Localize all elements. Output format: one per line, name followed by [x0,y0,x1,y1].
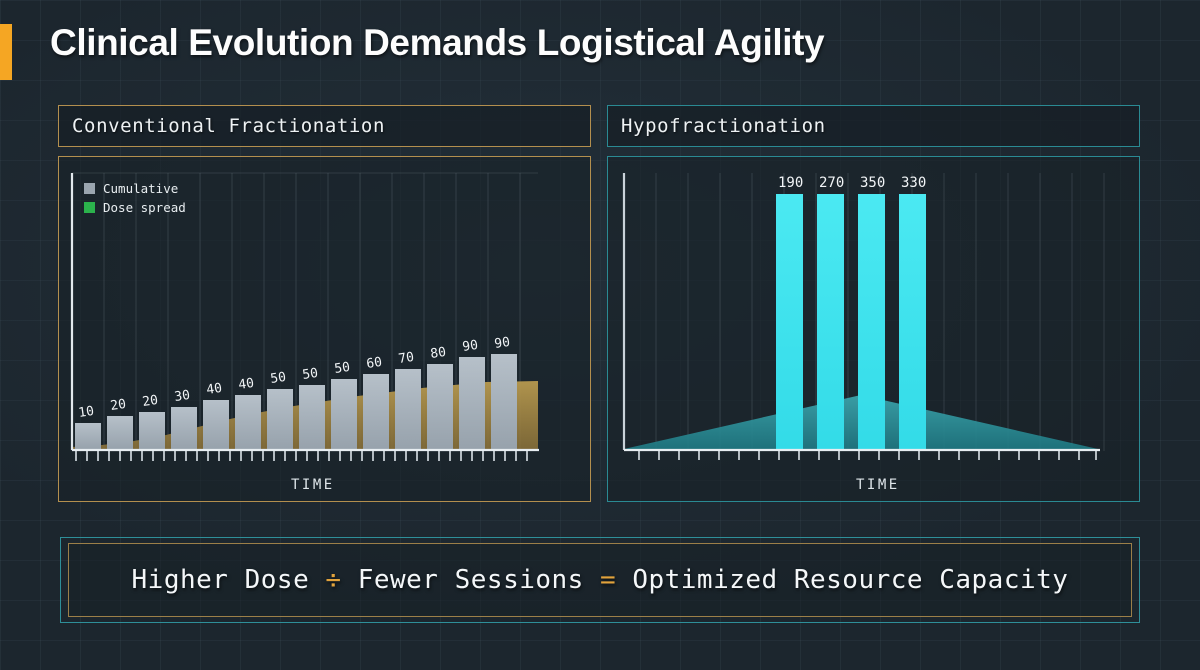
chart-right-svg: 190 270 350 330 [608,157,1139,501]
banner-part-1: Higher Dose [132,565,310,595]
bar-label-3: 20 [141,393,159,410]
panel-right-header: Hypofractionation [607,105,1140,147]
bar-6 [235,395,261,449]
banner-divide-operator: ÷ [325,565,341,595]
title-accent-bar [0,24,12,80]
bar-3 [139,412,165,449]
banner-part-2: Fewer Sessions [358,565,584,595]
chart-conventional-fractionation: 10 20 20 30 40 40 50 50 50 60 70 80 90 9… [59,157,590,501]
bar-4 [171,407,197,449]
panel-left-header: Conventional Fractionation [58,105,591,147]
bar-label-3: 350 [860,175,885,191]
bar-label-4: 30 [173,388,191,405]
bar-13 [459,357,485,449]
bar-10 [363,374,389,449]
banner-equals-operator: = [600,565,616,595]
bar-label-7: 50 [269,370,287,387]
bar-11 [395,369,421,449]
bar-label-12: 80 [429,345,447,362]
summary-banner-text: Higher Dose ÷ Fewer Sessions = Optimized… [132,565,1069,595]
bar-label-8: 50 [301,366,319,383]
bar-14 [491,354,517,449]
chart-left-legend: Cumulative Dose spread [84,181,186,215]
panel-left-body: 10 20 20 30 40 40 50 50 50 60 70 80 90 9… [58,156,591,502]
summary-banner: Higher Dose ÷ Fewer Sessions = Optimized… [60,537,1140,623]
bar-label-13: 90 [461,338,479,355]
bar-label-14: 90 [493,335,511,352]
chart-right-x-ticks [639,451,1096,460]
chart-left-xlabel: TIME [291,477,335,493]
bar-3-column [858,194,885,449]
bar-label-1: 10 [77,404,95,421]
bar-1 [75,423,101,449]
chart-right-xlabel: TIME [856,477,900,493]
bar-5 [203,400,229,449]
panel-right-title: Hypofractionation [608,115,826,137]
bar-2 [107,416,133,449]
panel-left-title: Conventional Fractionation [59,115,385,137]
bar-8 [299,385,325,449]
bar-label-4: 330 [901,175,926,191]
legend-label-cumulative: Cumulative [103,181,178,196]
summary-banner-inner: Higher Dose ÷ Fewer Sessions = Optimized… [68,543,1132,617]
bar-4-column [899,194,926,449]
bar-label-2: 270 [819,175,844,191]
panel-right-body: 190 270 350 330 [607,156,1140,502]
chart-left-svg: 10 20 20 30 40 40 50 50 50 60 70 80 90 9… [59,157,590,501]
chart-left-x-ticks [76,451,527,461]
bar-label-2: 20 [109,397,127,414]
bar-label-10: 60 [365,355,383,372]
title-row: Clinical Evolution Demands Logistical Ag… [0,22,1200,84]
bar-2-column [817,194,844,449]
bar-7 [267,389,293,449]
legend-swatch-dose-spread [84,202,95,213]
banner-part-3: Optimized Resource Capacity [632,565,1068,595]
chart-hypofractionation: 190 270 350 330 [608,157,1139,501]
bar-12 [427,364,453,449]
chart-right-bar-labels: 190 270 350 330 [778,175,926,191]
bar-9 [331,379,357,449]
bar-label-11: 70 [397,350,415,367]
bar-label-1: 190 [778,175,803,191]
page-title: Clinical Evolution Demands Logistical Ag… [50,22,824,64]
legend-label-dose-spread: Dose spread [103,200,186,215]
legend-swatch-cumulative [84,183,95,194]
bar-label-9: 50 [333,360,351,377]
bar-1-column [776,194,803,449]
bar-label-5: 40 [205,381,223,398]
bar-label-6: 40 [237,376,255,393]
